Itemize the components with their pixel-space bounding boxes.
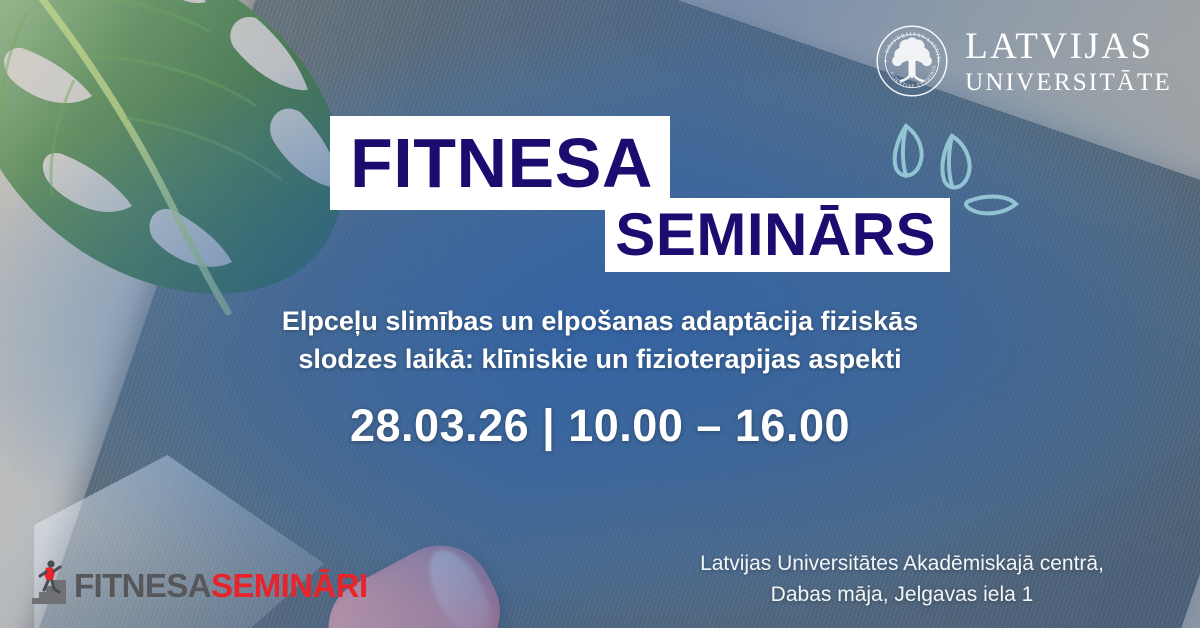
content-layer: UNIVERSITAS LATVIENSIS SCIENTIAE ET PATR… xyxy=(0,0,1200,628)
promo-banner: UNIVERSITAS LATVIENSIS SCIENTIAE ET PATR… xyxy=(0,0,1200,628)
event-subtitle-line-2: slodzes laikā: klīniskie un fizioterapij… xyxy=(200,340,1000,378)
title-block-2: SEMINĀRS xyxy=(605,198,950,272)
running-person-stairs-icon xyxy=(30,558,70,604)
organizer-name-word-1: FITNESA xyxy=(74,567,211,604)
tree-seal-icon: UNIVERSITAS LATVIENSIS SCIENTIAE ET PATR… xyxy=(875,24,949,98)
page-title-line-2: SEMINĀRS xyxy=(615,205,936,265)
organizer-name-word-2: SEMINĀRI xyxy=(211,567,368,604)
title-block-1: FITNESA xyxy=(330,116,670,210)
event-venue-line-2: Dabas māja, Jelgavas iela 1 xyxy=(642,579,1162,610)
page-title-line-1: FITNESA xyxy=(350,128,653,198)
organizer-logo: FITNESASEMINĀRI xyxy=(30,558,368,604)
event-subtitle-line-1: Elpceļu slimības un elpošanas adaptācija… xyxy=(200,302,1000,340)
university-name-line-2: UNIVERSITĀTE xyxy=(965,70,1172,95)
university-name: LATVIJAS UNIVERSITĀTE xyxy=(965,28,1172,95)
event-subtitle: Elpceļu slimības un elpošanas adaptācija… xyxy=(200,302,1000,379)
event-venue-line-1: Latvijas Universitātes Akadēmiskajā cent… xyxy=(642,548,1162,579)
event-datetime: 28.03.26 | 10.00 – 16.00 xyxy=(250,400,950,452)
university-name-line-1: LATVIJAS xyxy=(965,28,1172,65)
university-logo: UNIVERSITAS LATVIENSIS SCIENTIAE ET PATR… xyxy=(875,24,1172,98)
event-venue: Latvijas Universitātes Akadēmiskajā cent… xyxy=(642,548,1162,610)
organizer-name: FITNESASEMINĀRI xyxy=(74,569,368,602)
